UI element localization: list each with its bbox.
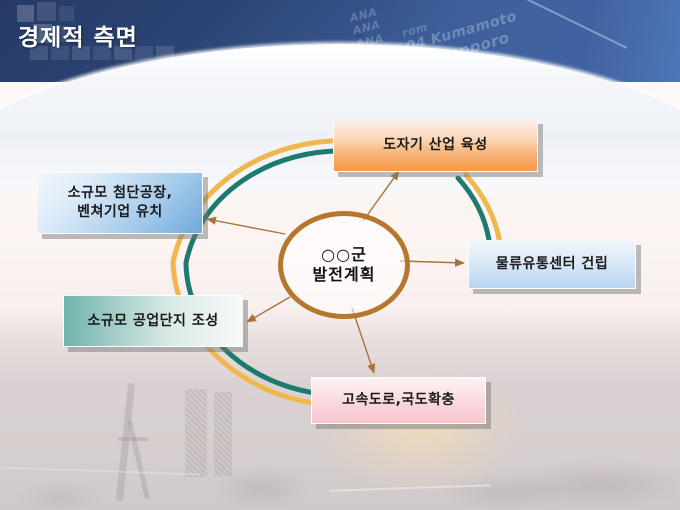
arrow-to-left-bottom-node — [247, 297, 290, 322]
node-label: 고속도로,국도확충 — [342, 391, 455, 410]
node-hightech-venture[interactable]: 소규모 첨단공장, 벤쳐기업 유치 — [37, 172, 203, 234]
node-ceramics-industry[interactable]: 도자기 산업 육성 — [333, 119, 538, 172]
node-logistics-center[interactable]: 물류유통센터 건립 — [468, 240, 636, 289]
node-label: 도자기 산업 육성 — [383, 136, 487, 155]
page-title: 경제적 측면 — [18, 18, 138, 52]
center-hub-circle[interactable]: ○○군 발전계획 — [278, 211, 410, 319]
center-hub-label: ○○군 발전계획 — [313, 245, 376, 285]
node-label: 물류유통센터 건립 — [496, 255, 608, 274]
arrow-to-left-top-node — [207, 219, 285, 234]
node-highway-expansion[interactable]: 고속도로,국도확충 — [311, 377, 486, 424]
node-label: 소규모 첨단공장, 벤쳐기업 유치 — [68, 184, 173, 222]
arrow-to-top-node — [363, 171, 399, 221]
node-label: 소규모 공업단지 조성 — [87, 312, 218, 331]
slide-canvas: rom 04 Kumamoto 58 Sapporo 754 Ko ANA AN… — [0, 0, 680, 510]
node-industrial-complex[interactable]: 소규모 공업단지 조성 — [63, 295, 243, 347]
